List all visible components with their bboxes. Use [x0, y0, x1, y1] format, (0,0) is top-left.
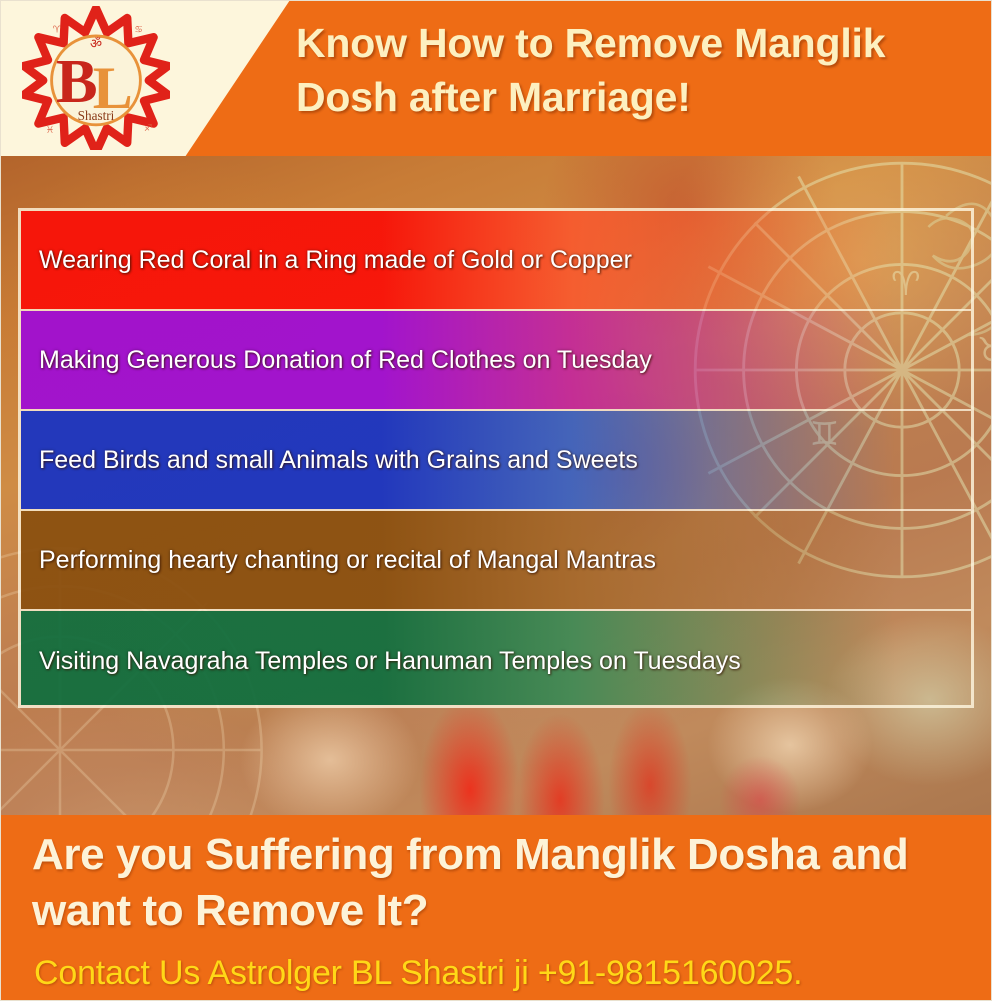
logo-subtitle: Shastri	[78, 108, 115, 123]
list-item-label: Performing hearty chanting or recital of…	[21, 546, 656, 575]
manglik-dosh-infographic: ♈ ♉ ♊	[0, 0, 992, 1001]
footer-headline: Are you Suffering from Manglik Dosha and…	[32, 827, 968, 940]
list-item-label: Visiting Navagraha Temples or Hanuman Te…	[21, 647, 741, 676]
zodiac-glyph-taurus: ♉	[977, 330, 992, 369]
list-item-label: Making Generous Donation of Red Clothes …	[21, 346, 652, 375]
footer-contact[interactable]: Contact Us Astrolger BL Shastri ji +91-9…	[34, 954, 974, 993]
logo-panel: ॐ B L Shastri ♈ ♋ ♐ ♓	[0, 0, 290, 156]
bl-shastri-logo[interactable]: ॐ B L Shastri ♈ ♋ ♐ ♓	[22, 6, 170, 150]
zodiac-ornament: ♈	[53, 24, 62, 35]
list-item-label: Wearing Red Coral in a Ring made of Gold…	[21, 246, 632, 275]
remedies-list: Wearing Red Coral in a Ring made of Gold…	[18, 208, 974, 708]
svg-text:B: B	[56, 47, 98, 116]
list-item-label: Feed Birds and small Animals with Grains…	[21, 446, 638, 475]
footer-band: Are you Suffering from Manglik Dosha and…	[0, 815, 992, 1001]
list-item[interactable]: Making Generous Donation of Red Clothes …	[21, 311, 971, 411]
header-band: ॐ B L Shastri ♈ ♋ ♐ ♓ Know	[0, 0, 992, 156]
list-item[interactable]: Visiting Navagraha Temples or Hanuman Te…	[21, 611, 971, 708]
list-item[interactable]: Wearing Red Coral in a Ring made of Gold…	[21, 211, 971, 311]
list-item[interactable]: Performing hearty chanting or recital of…	[21, 511, 971, 611]
page-title: Know How to Remove Manglik Dosh after Ma…	[296, 16, 980, 124]
zodiac-ornament: ♐	[144, 123, 153, 134]
list-item[interactable]: Feed Birds and small Animals with Grains…	[21, 411, 971, 511]
zodiac-ornament: ♋	[134, 24, 143, 35]
zodiac-ornament: ♓	[46, 125, 55, 136]
